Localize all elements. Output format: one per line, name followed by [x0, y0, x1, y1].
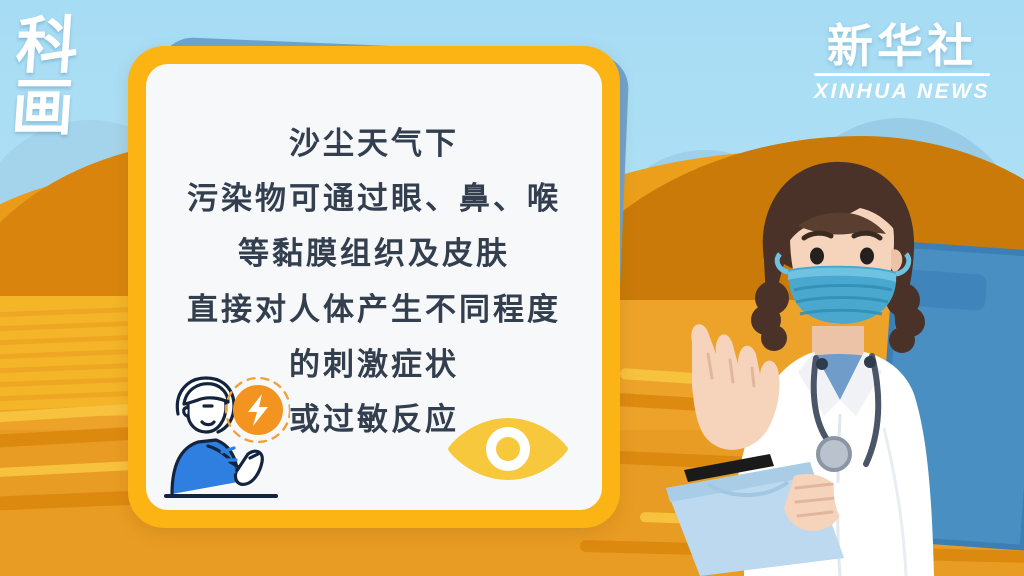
doctor-hair-curls-left: [751, 281, 789, 351]
xinhua-news-logo: 新华社 XINHUA NEWS: [814, 22, 990, 104]
doctor-eye-left: [810, 248, 824, 265]
coughing-person-illustration: [164, 362, 290, 504]
doctor-eye-right: [860, 248, 874, 265]
infographic-canvas: 科画 新华社 XINHUA NEWS 沙尘天气下 污染物可通过眼、鼻、喉 等黏膜…: [0, 0, 1024, 576]
doctor-stethoscope-chestpiece: [818, 438, 850, 470]
doctor-stethoscope-ear-right: [864, 356, 876, 368]
eye-icon: [444, 414, 572, 484]
kehua-logo-text: 科画: [10, 16, 123, 140]
message-line-2: 污染物可通过眼、鼻、喉: [146, 171, 602, 226]
kehua-logo: 科画: [14, 16, 118, 108]
doctor-stethoscope-ear-left: [816, 358, 828, 370]
message-line-1: 沙尘天气下: [146, 116, 602, 171]
xinhua-logo-english: XINHUA NEWS: [814, 80, 990, 104]
message-card: 沙尘天气下 污染物可通过眼、鼻、喉 等黏膜组织及皮肤 直接对人体产生不同程度 的…: [128, 46, 620, 528]
doctor-illustration: [648, 128, 1008, 576]
message-card-inner: 沙尘天气下 污染物可通过眼、鼻、喉 等黏膜组织及皮肤 直接对人体产生不同程度 的…: [146, 64, 602, 510]
xinhua-logo-chinese: 新华社: [814, 22, 990, 70]
message-line-4: 直接对人体产生不同程度: [146, 282, 602, 337]
message-line-3: 等黏膜组织及皮肤: [146, 226, 602, 281]
xinhua-logo-rule: [814, 73, 990, 76]
